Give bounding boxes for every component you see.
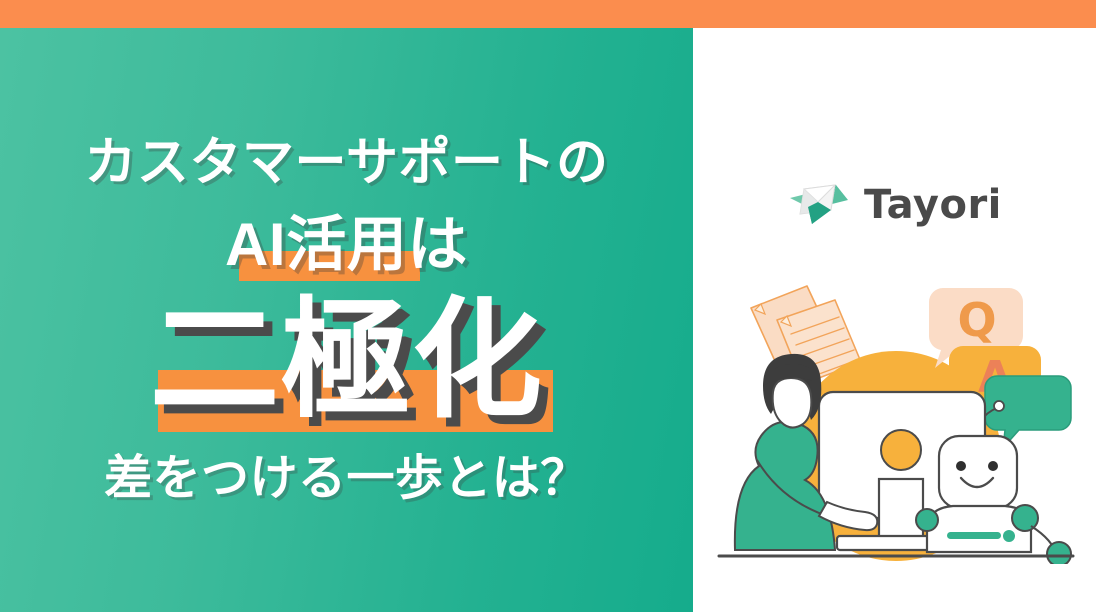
q-label: Q	[957, 293, 996, 347]
promo-banner: カスタマーサポートの AI活用は 二極化 差をつける一歩とは？	[0, 0, 1096, 612]
paper-plane-envelope-icon	[788, 180, 850, 230]
headline-line-2: AI活用は	[225, 215, 468, 275]
brand-panel: Tayori Q	[693, 28, 1096, 612]
headline-block: カスタマーサポートの AI活用は 二極化 差をつける一歩とは？	[0, 28, 693, 612]
tayori-logo[interactable]: Tayori	[788, 180, 1002, 230]
headline-line-2-text: AI活用は	[225, 215, 468, 275]
top-accent-bar	[0, 0, 1096, 28]
headline-line-3: 二極化	[150, 295, 544, 425]
tayori-wordmark: Tayori	[864, 182, 1002, 228]
customer-support-ai-illustration: Q A	[711, 264, 1081, 564]
headline-line-3-text: 二極化	[150, 295, 544, 425]
headline-line-1: カスタマーサポートの	[84, 137, 608, 189]
headline-line-4-text: 差をつける一歩とは？	[104, 455, 589, 503]
headline-line-4: 差をつける一歩とは？	[104, 455, 589, 503]
headline-line-1-text: カスタマーサポートの	[84, 137, 608, 189]
